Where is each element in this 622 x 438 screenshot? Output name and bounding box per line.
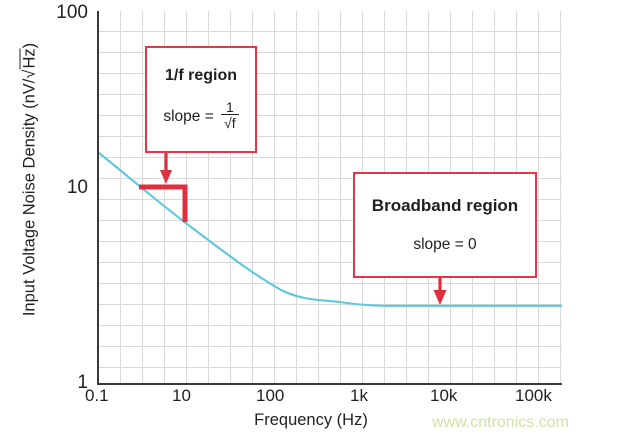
x-tick-1k: 1k xyxy=(350,387,368,404)
annotation-1f-subtitle: slope = 1 √f xyxy=(163,102,238,132)
x-tick-10k: 10k xyxy=(430,387,457,404)
x-tick-10: 10 xyxy=(172,387,191,404)
sqrt-radical-icon: √ xyxy=(21,70,40,79)
y-tick-100: 100 xyxy=(50,3,88,22)
annotation-1f-region: 1/f region slope = 1 √f xyxy=(145,46,257,153)
y-tick-10: 10 xyxy=(50,178,88,197)
annotation-1f-title: 1/f region xyxy=(165,67,237,85)
noise-density-chart: 100 10 1 0.1 10 100 1k 10k 100k Input Vo… xyxy=(0,0,622,438)
annotation-broadband-title: Broadband region xyxy=(372,196,518,216)
fraction-numerator: 1 xyxy=(223,101,237,114)
y-tick-1: 1 xyxy=(50,373,88,392)
y-axis-title: Input Voltage Noise Density (nV/√Hz) xyxy=(21,0,40,360)
fraction-denominator-radicand: f xyxy=(232,115,236,131)
y-axis-title-radicand: Hz xyxy=(20,48,39,69)
y-axis-title-suffix: ) xyxy=(21,43,39,49)
annotation-broadband-region: Broadband region slope = 0 xyxy=(353,172,537,278)
watermark: www.cntronics.com xyxy=(432,414,569,432)
fraction-one-over-sqrt-f: 1 √f xyxy=(221,101,239,131)
annotation-broadband-subtitle: slope = 0 xyxy=(413,236,476,254)
x-tick-100k: 100k xyxy=(515,387,552,404)
y-axis-title-prefix: Input Voltage Noise Density (nV/ xyxy=(21,79,39,317)
x-tick-0p1: 0.1 xyxy=(85,387,109,404)
fraction-denominator: √f xyxy=(221,114,239,131)
annotation-1f-slope-label: slope = xyxy=(163,108,218,125)
x-tick-100: 100 xyxy=(256,387,284,404)
sqrt-radical-icon-small: √ xyxy=(224,115,232,131)
